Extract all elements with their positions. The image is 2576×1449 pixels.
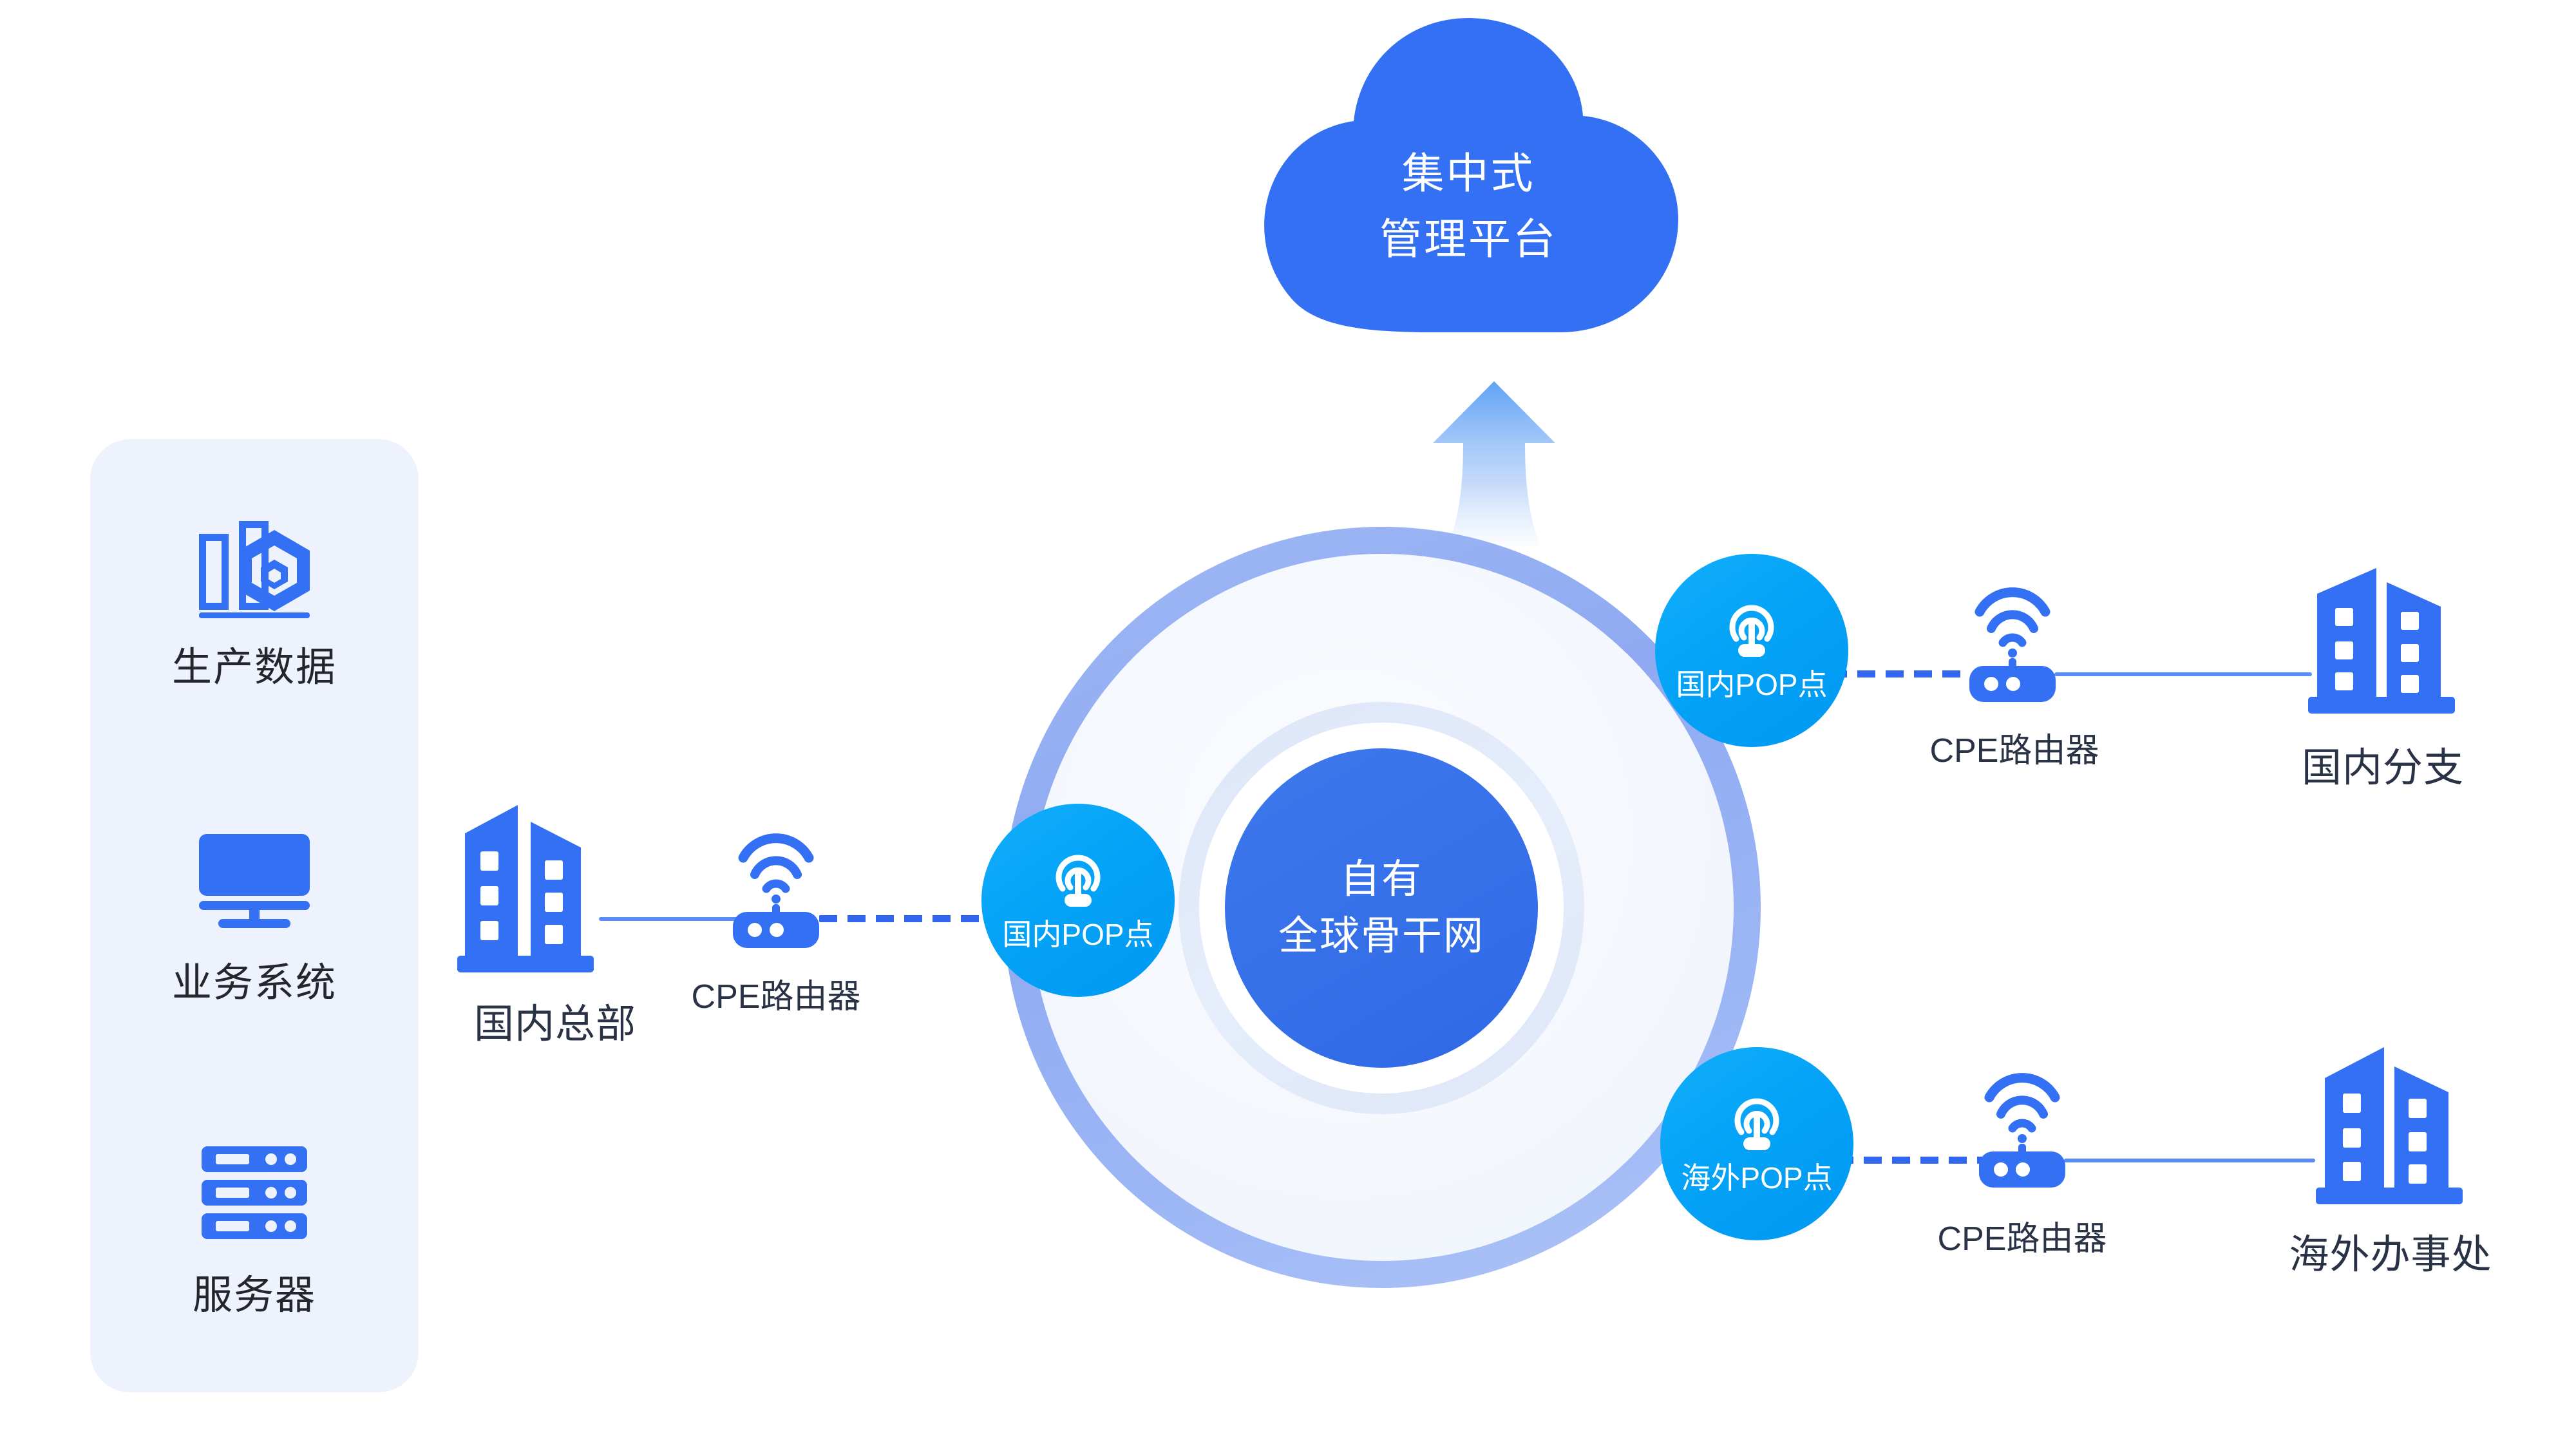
link-router-to-domestic-branch [2054,672,2312,676]
resource-panel: 生产数据 业务系统 [90,439,419,1392]
pop-label: 国内POP点 [1676,670,1827,699]
pop-label: 国内POP点 [1002,920,1153,949]
pop-node-domestic-left[interactable]: 国内POP点 [981,804,1175,997]
link-router-to-overseas-office [2064,1159,2315,1162]
server-rack-icon [90,1119,419,1267]
resource-item-business-system[interactable]: 业务系统 [90,806,419,1003]
cloud-label-group: 集中式 管理平台 [1243,6,1694,380]
router-label-domestic-branch: CPE路由器 [1930,734,2099,768]
resource-item-label: 服务器 [90,1276,419,1316]
office-building-icon-headquarters[interactable] [451,796,605,976]
cloud-label-line1: 集中式 [1402,140,1535,206]
cpe-router-icon-overseas-office[interactable] [1961,1057,2083,1180]
site-label-overseas-office: 海外办事处 [2289,1235,2492,1275]
site-label-domestic-branch: 国内分支 [2302,748,2464,788]
backbone-label-line1: 自有 [1340,851,1423,908]
antenna-icon [1721,601,1783,663]
antenna-icon [1726,1095,1788,1157]
pop-label: 海外POP点 [1681,1163,1832,1193]
monitor-icon [90,806,419,954]
router-label-overseas-office: CPE路由器 [1938,1222,2107,1256]
centralized-management-platform[interactable]: 集中式 管理平台 [1243,6,1694,380]
pop-node-overseas[interactable]: 海外POP点 [1660,1047,1853,1240]
cpe-router-icon-headquarters[interactable] [715,818,837,940]
resource-item-label: 生产数据 [90,648,419,688]
resource-item-server[interactable]: 服务器 [90,1119,419,1316]
resource-item-production-data[interactable]: 生产数据 [90,491,419,688]
diagram-canvas: 生产数据 业务系统 [0,0,2576,1449]
backbone-core-circle[interactable]: 自有 全球骨干网 [1225,748,1538,1068]
cpe-router-icon-domestic-branch[interactable] [1951,572,2074,694]
production-data-icon [90,491,419,639]
antenna-icon [1047,851,1109,913]
cloud-label-line2: 管理平台 [1379,206,1557,272]
pop-node-domestic-right[interactable]: 国内POP点 [1655,554,1848,747]
office-building-icon-domestic-branch[interactable] [2300,562,2461,723]
site-label-headquarters: 国内总部 [474,1005,636,1045]
link-pop-right-to-router [1829,670,1971,677]
office-building-icon-overseas-office[interactable] [2307,1038,2468,1212]
router-label-headquarters: CPE路由器 [692,980,861,1014]
resource-item-label: 业务系统 [90,963,419,1003]
backbone-label-line2: 全球骨干网 [1278,908,1484,965]
